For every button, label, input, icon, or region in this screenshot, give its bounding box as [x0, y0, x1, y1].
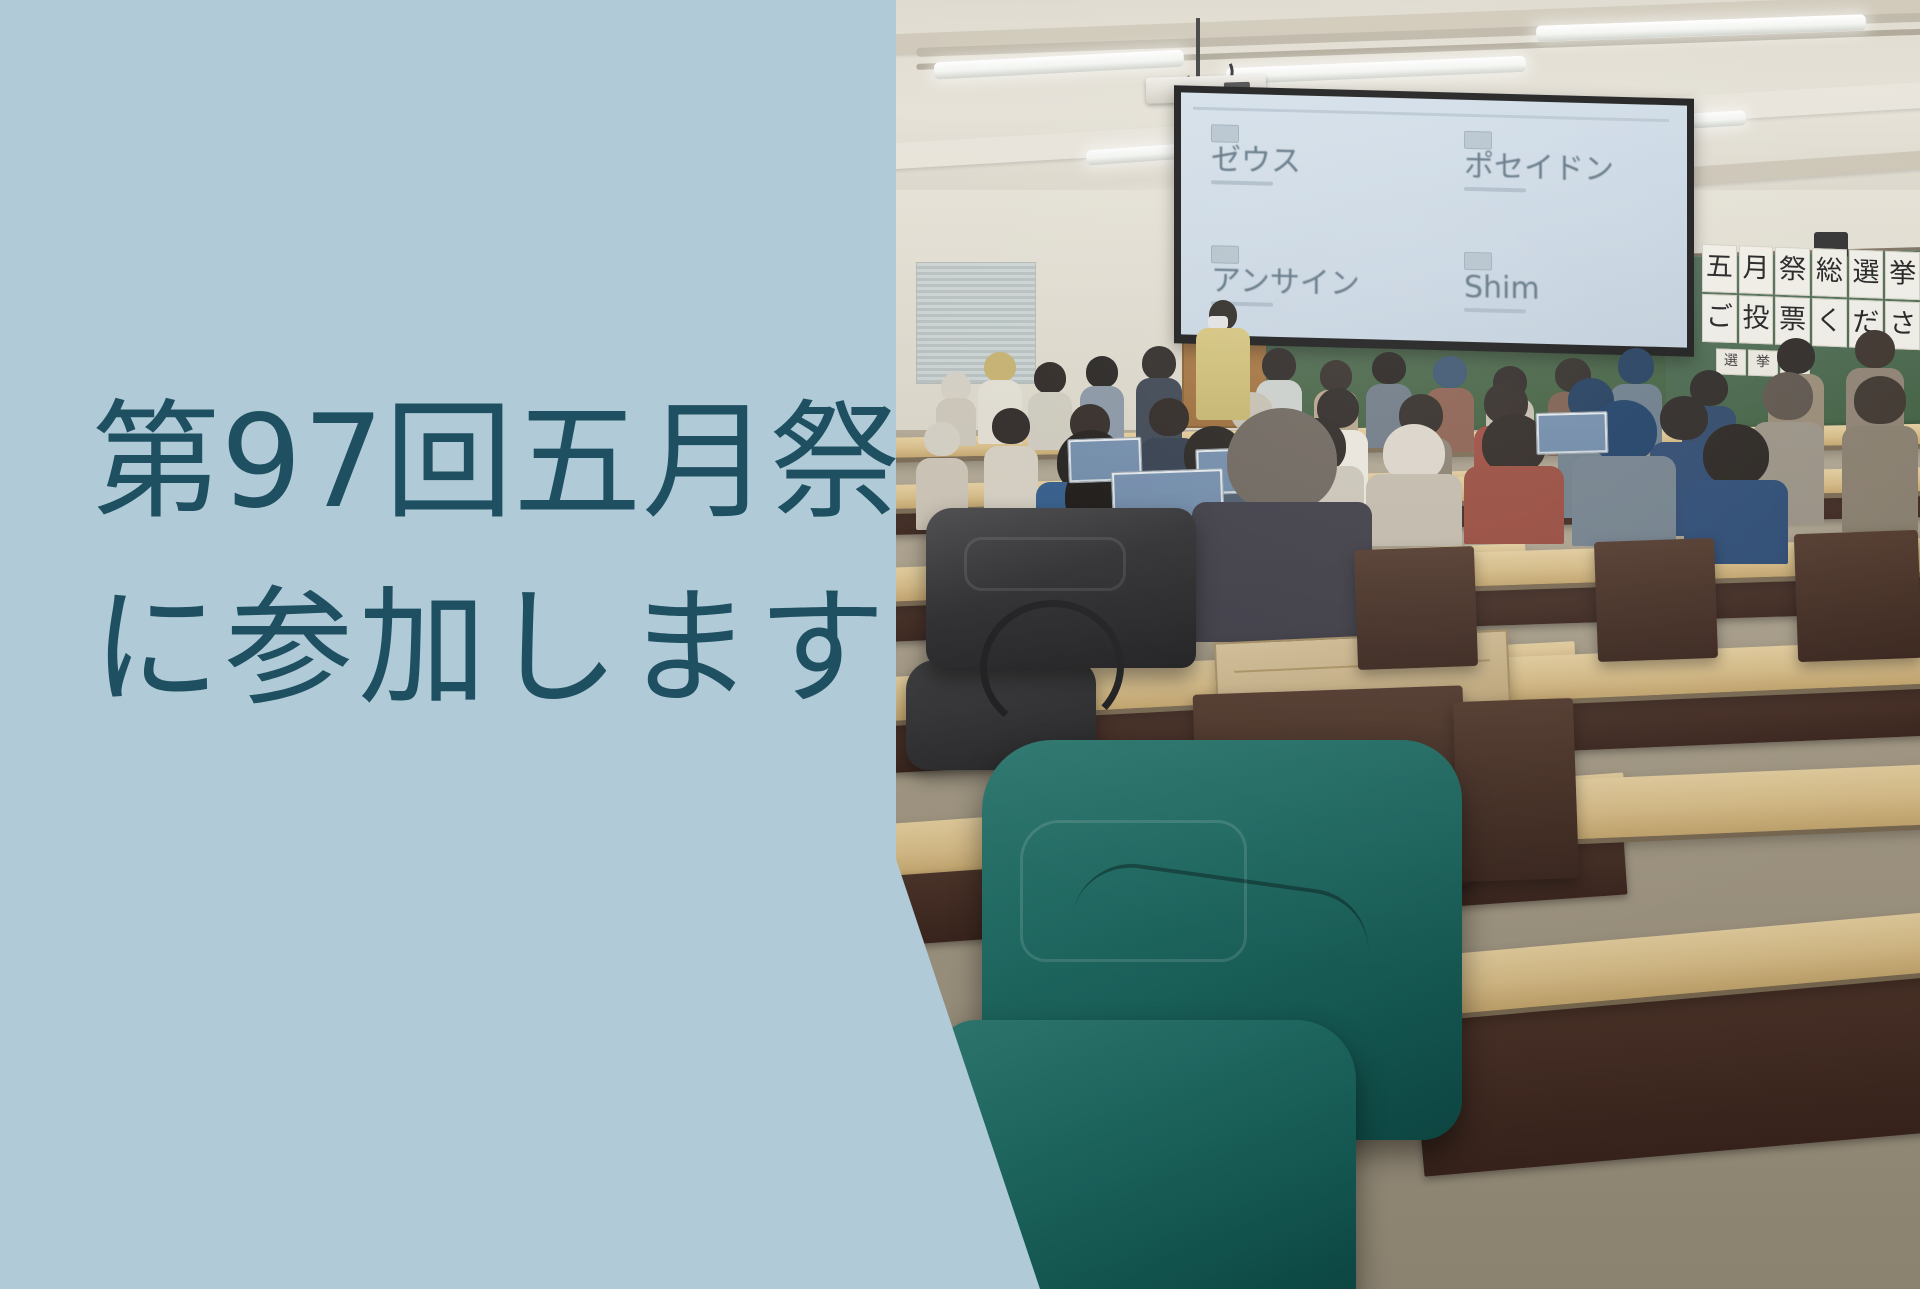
- chair-back: [1354, 546, 1478, 670]
- poster-char: 月: [1739, 245, 1774, 294]
- person-head: [1142, 346, 1176, 380]
- person-body: [1192, 502, 1372, 642]
- poster-char: 挙: [1885, 251, 1920, 300]
- slide-item-label: ポセイドン: [1464, 151, 1614, 185]
- audience-member: [1366, 424, 1462, 546]
- person-head: [1777, 338, 1815, 374]
- title-panel: 第97回五月祭 に参加します: [0, 0, 896, 1289]
- lecturer-body: [1196, 328, 1250, 420]
- lecturer: [1196, 300, 1250, 420]
- person-body: [1842, 426, 1918, 532]
- slide-item: ポセイドン: [1434, 99, 1687, 227]
- laptop-screen: [1539, 414, 1606, 452]
- lecture-hall-photo: ゼウス ポセイドン アンサイン Shim: [896, 0, 1920, 1289]
- person-head: [1372, 352, 1406, 384]
- slide-item: ゼウス: [1181, 92, 1434, 220]
- poster-char: 五: [1702, 244, 1737, 293]
- person-head: [1227, 408, 1337, 512]
- slide-item-subtitle: [1464, 186, 1526, 192]
- audience-member-foreground: [1192, 408, 1372, 642]
- slide-item-label: Shim: [1464, 272, 1540, 304]
- person-head: [1854, 376, 1906, 424]
- person-head: [1855, 330, 1895, 368]
- laptop: [1535, 411, 1608, 455]
- poster-canvas: ゼウス ポセイドン アンサイン Shim: [0, 0, 1920, 1289]
- person-head: [1703, 424, 1769, 486]
- slide-thumbnail-icon: [1464, 130, 1492, 149]
- slide-grid: ゼウス ポセイドン アンサイン Shim: [1181, 92, 1687, 347]
- audience-member: [984, 408, 1038, 524]
- projection-screen-surface: ゼウス ポセイドン アンサイン Shim: [1181, 92, 1687, 347]
- title-line-2: に参加します: [92, 556, 852, 742]
- poster-char: ご: [1702, 294, 1737, 343]
- person-head: [984, 352, 1016, 382]
- slide-thumbnail-icon: [1464, 251, 1492, 270]
- person-body: [1366, 474, 1462, 546]
- person-head: [1763, 372, 1813, 420]
- slide-item-subtitle: [1211, 180, 1273, 186]
- person-body: [1572, 456, 1676, 546]
- slide-item: Shim: [1434, 220, 1687, 348]
- title-line-1: 第97回五月祭: [92, 370, 852, 556]
- person-head: [924, 422, 960, 456]
- poster-char: 総: [1812, 248, 1847, 297]
- poster-title: 第97回五月祭 に参加します: [92, 370, 852, 741]
- slide-thumbnail-icon: [1211, 245, 1239, 264]
- slide-item-label: ゼウス: [1211, 145, 1301, 177]
- person-head: [1034, 362, 1066, 394]
- person-head: [1262, 348, 1296, 382]
- poster-char: 祭: [1775, 247, 1810, 296]
- audience-member: [1842, 376, 1918, 532]
- person-body: [1464, 466, 1564, 544]
- poster-char: 選: [1849, 249, 1884, 298]
- projection-screen: ゼウス ポセイドン アンサイン Shim: [1174, 85, 1694, 357]
- slide-thumbnail-icon: [1211, 124, 1239, 143]
- person-head: [1433, 356, 1467, 388]
- wall-poster-line-1: 五 月 祭 総 選 挙: [1702, 244, 1920, 300]
- slide-item-label: アンサイン: [1211, 266, 1360, 300]
- person-head: [1086, 356, 1118, 388]
- chair-back: [1794, 530, 1920, 662]
- slide-item-subtitle: [1464, 307, 1526, 313]
- chair-back: [1594, 538, 1718, 662]
- chair-back: [1453, 698, 1579, 882]
- person-head: [992, 408, 1030, 444]
- fluorescent-light-icon: [1226, 56, 1526, 85]
